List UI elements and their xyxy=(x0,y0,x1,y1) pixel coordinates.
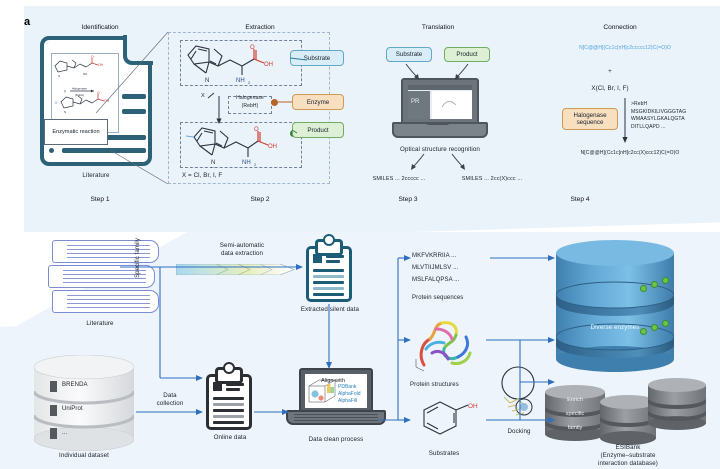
specific-family-label: Specific family xyxy=(134,228,142,288)
data-collection-label: Data collection xyxy=(142,392,198,409)
workflow-arrow-layer xyxy=(0,0,720,469)
figure-root: a Identification Extraction Translation … xyxy=(0,0,720,469)
